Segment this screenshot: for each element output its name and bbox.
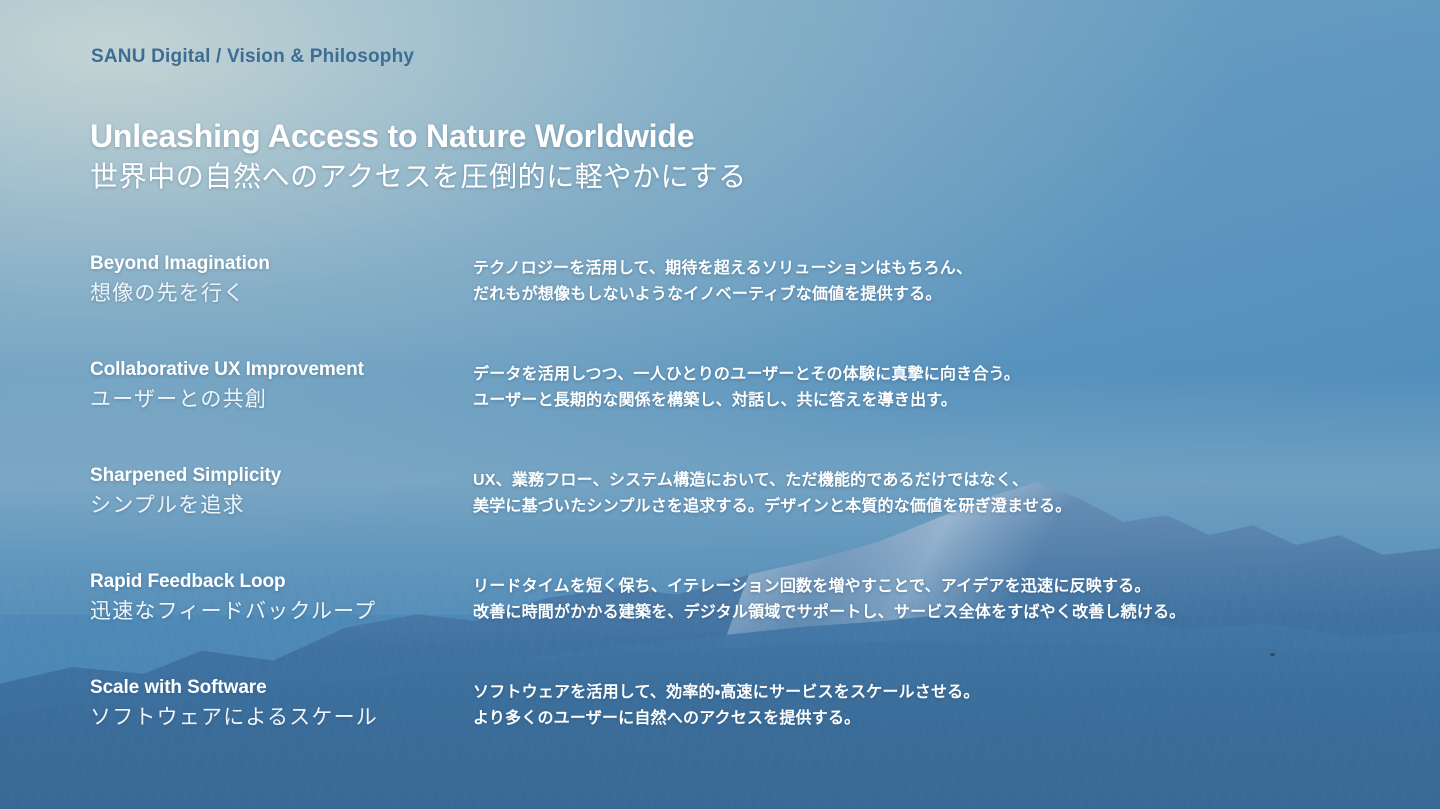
list-item: Sharpened Simplicity シンプルを追求 UX、業務フロー、シス… [90, 462, 1390, 568]
list-item: Rapid Feedback Loop 迅速なフィードバックループ リードタイム… [90, 568, 1390, 674]
principle-description-line: より多くのユーザーに自然へのアクセスを提供する。 [473, 706, 1390, 732]
principle-labels: Collaborative UX Improvement ユーザーとの共創 [90, 356, 473, 413]
principle-labels: Rapid Feedback Loop 迅速なフィードバックループ [90, 568, 473, 625]
principle-description: UX、業務フロー、システム構造において、ただ機能的であるだけではなく、 美学に基… [473, 462, 1390, 520]
principle-labels: Beyond Imagination 想像の先を行く [90, 250, 473, 307]
page-title-english: Unleashing Access to Nature Worldwide [90, 118, 747, 156]
list-item: Scale with Software ソフトウェアによるスケール ソフトウェア… [90, 674, 1390, 780]
list-item: Collaborative UX Improvement ユーザーとの共創 デー… [90, 356, 1390, 462]
principle-title-japanese: 想像の先を行く [90, 280, 473, 307]
slide-content: SANU Digital / Vision & Philosophy Unlea… [0, 0, 1440, 809]
principle-labels: Scale with Software ソフトウェアによるスケール [90, 674, 473, 731]
principle-description-line: データを活用しつつ、一人ひとりのユーザーとその体験に真摯に向き合う。 [473, 362, 1390, 388]
principle-description-line: テクノロジーを活用して、期待を超えるソリューションはもちろん、 [473, 256, 1390, 282]
principle-description: テクノロジーを活用して、期待を超えるソリューションはもちろん、 だれもが想像もし… [473, 250, 1390, 308]
principle-description-line: 改善に時間がかかる建築を、デジタル領域でサポートし、サービス全体をすばやく改善し… [473, 600, 1390, 626]
principle-labels: Sharpened Simplicity シンプルを追求 [90, 462, 473, 519]
principle-title-japanese: 迅速なフィードバックループ [90, 598, 473, 625]
page-title-japanese: 世界中の自然へのアクセスを圧倒的に軽やかにする [90, 159, 747, 195]
principle-description-line: ソフトウェアを活用して、効率的・高速にサービスをスケールさせる。 [473, 680, 1390, 706]
principle-description-line: UX、業務フロー、システム構造において、ただ機能的であるだけではなく、 [473, 468, 1390, 494]
vision-philosophy-slide: SANU Digital / Vision & Philosophy Unlea… [0, 0, 1440, 809]
principle-description-line: ユーザーと長期的な関係を構築し、対話し、共に答えを導き出す。 [473, 388, 1390, 414]
principle-title-english: Scale with Software [90, 676, 473, 700]
principle-title-english: Collaborative UX Improvement [90, 358, 473, 382]
principle-description-line: リードタイムを短く保ち、イテレーション回数を増やすことで、アイデアを迅速に反映す… [473, 574, 1390, 600]
principle-title-japanese: シンプルを追求 [90, 492, 473, 519]
list-item: Beyond Imagination 想像の先を行く テクノロジーを活用して、期… [90, 250, 1390, 356]
principle-description-line: 美学に基づいたシンプルさを追求する。デザインと本質的な価値を研ぎ澄ませる。 [473, 494, 1390, 520]
breadcrumb: SANU Digital / Vision & Philosophy [91, 46, 414, 68]
principle-description-line: だれもが想像もしないようなイノベーティブな価値を提供する。 [473, 282, 1390, 308]
principle-title-english: Beyond Imagination [90, 252, 473, 276]
principle-description: データを活用しつつ、一人ひとりのユーザーとその体験に真摯に向き合う。 ユーザーと… [473, 356, 1390, 414]
principle-title-english: Sharpened Simplicity [90, 464, 473, 488]
principle-title-japanese: ユーザーとの共創 [90, 386, 473, 413]
principle-description: ソフトウェアを活用して、効率的・高速にサービスをスケールさせる。 より多くのユー… [473, 674, 1390, 732]
page-title: Unleashing Access to Nature Worldwide 世界… [90, 118, 747, 195]
principles-list: Beyond Imagination 想像の先を行く テクノロジーを活用して、期… [90, 250, 1390, 780]
principle-title-english: Rapid Feedback Loop [90, 570, 473, 594]
principle-title-japanese: ソフトウェアによるスケール [90, 704, 473, 731]
principle-description: リードタイムを短く保ち、イテレーション回数を増やすことで、アイデアを迅速に反映す… [473, 568, 1390, 626]
